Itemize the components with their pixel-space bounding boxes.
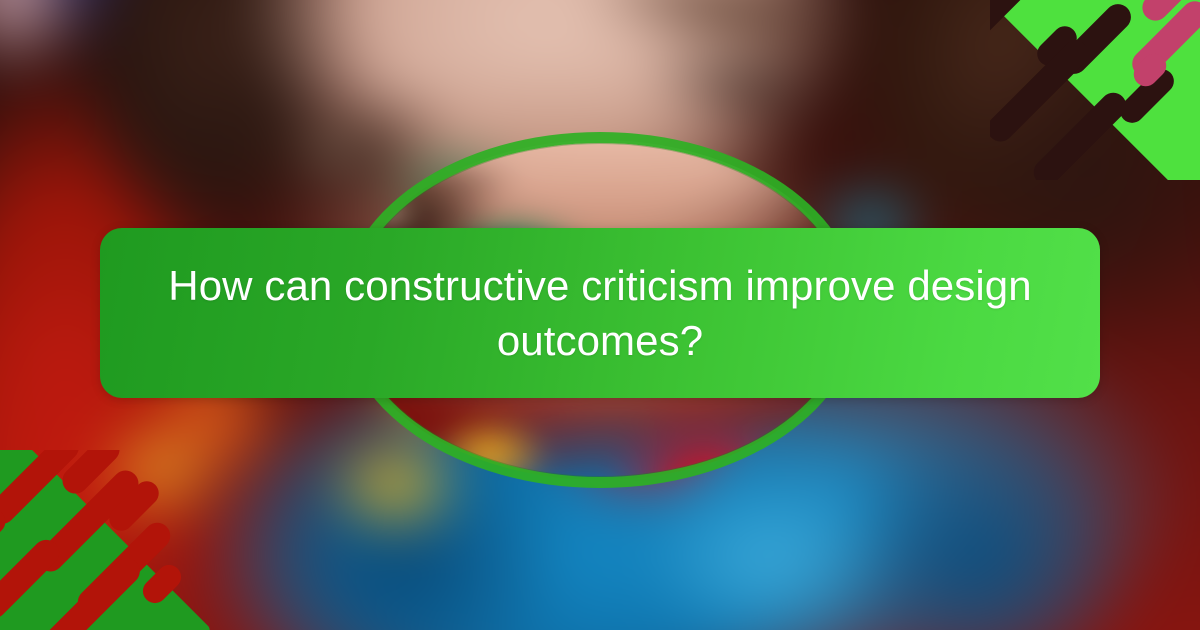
- question-banner: How can constructive criticism improve d…: [100, 228, 1100, 398]
- decoration-top-right: [990, 0, 1200, 180]
- question-text: How can constructive criticism improve d…: [156, 258, 1044, 369]
- question-card: How can constructive criticism improve d…: [0, 0, 1200, 630]
- decoration-bottom-left: [0, 450, 210, 630]
